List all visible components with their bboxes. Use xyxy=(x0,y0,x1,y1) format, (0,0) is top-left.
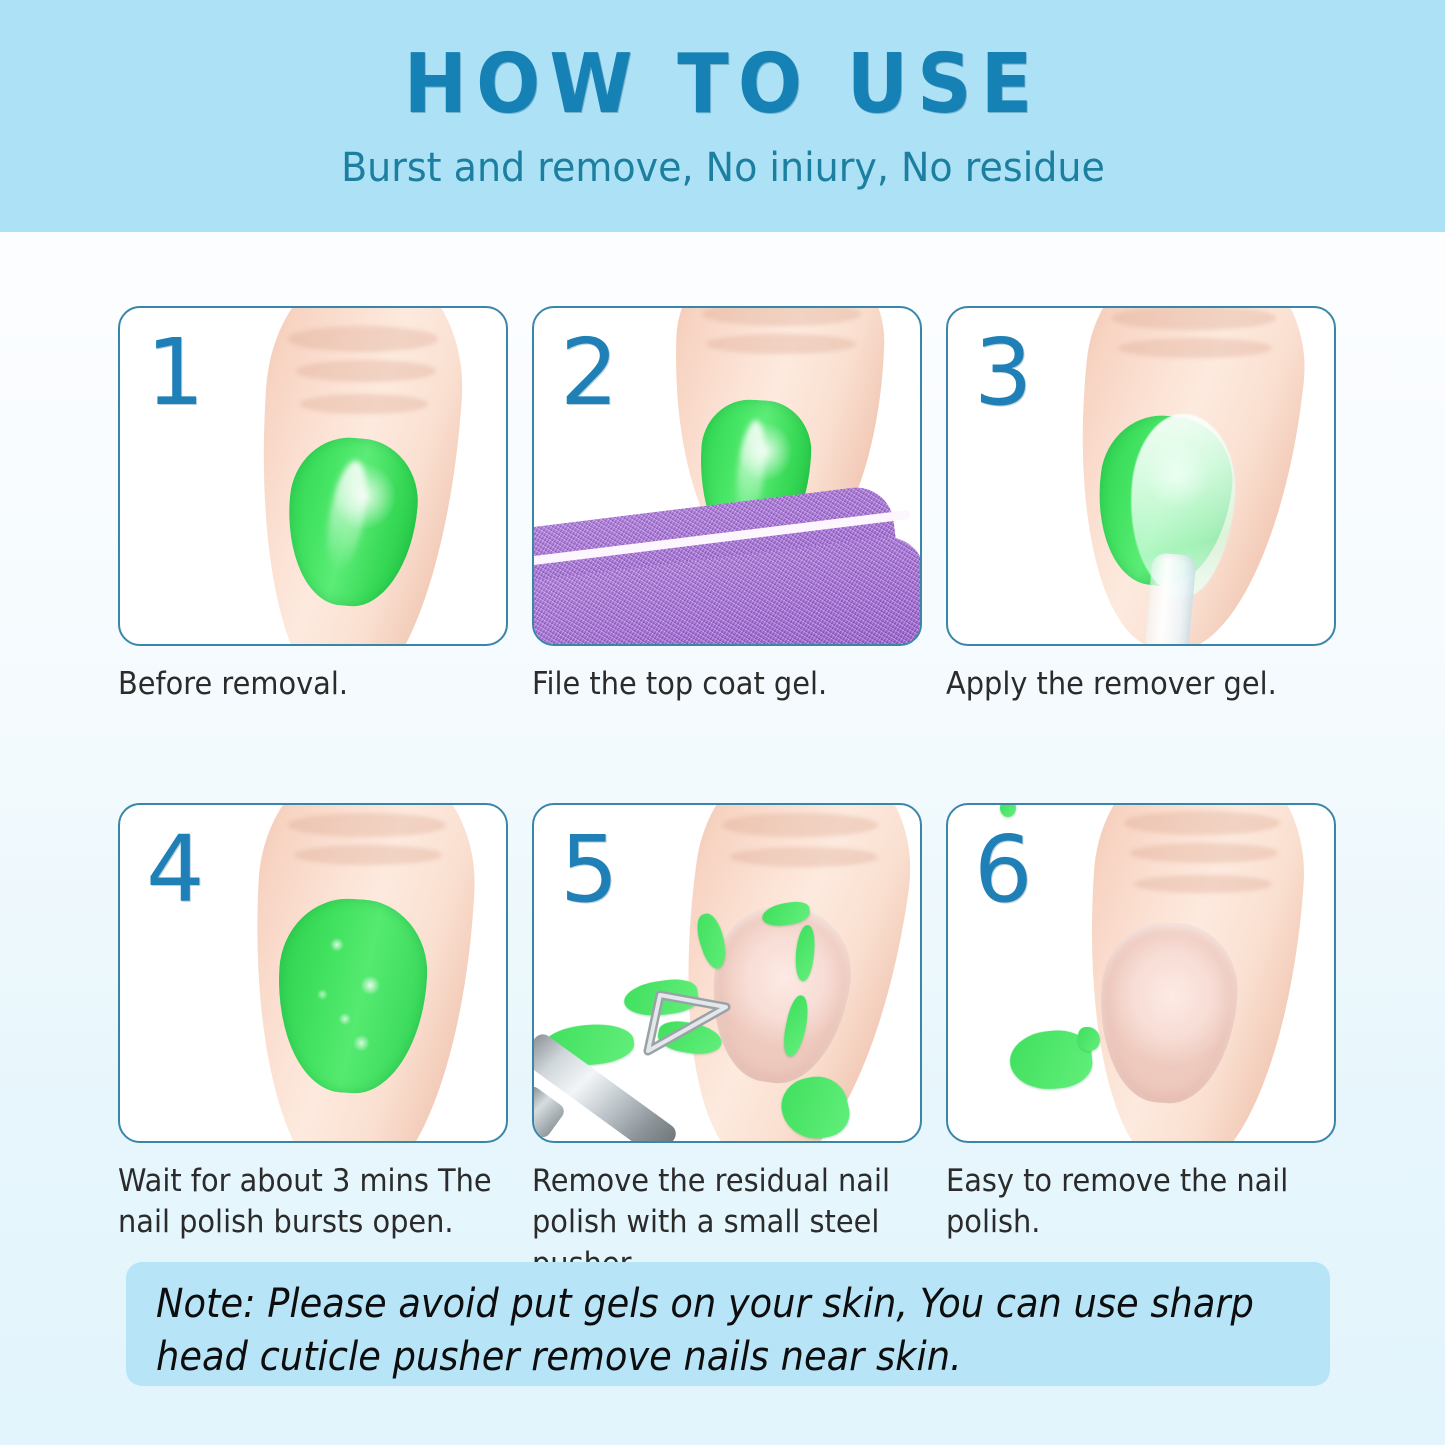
steps-row-1: 1 Before removal. 2 xyxy=(118,306,1334,705)
step-caption-1: Before removal. xyxy=(118,664,509,705)
step-caption-2: File the top coat gel. xyxy=(532,664,923,705)
header-band: HOW TO USE Burst and remove, No iniury, … xyxy=(0,0,1445,232)
steps-grid: 1 Before removal. 2 xyxy=(118,306,1334,1285)
gel-brush xyxy=(1143,552,1196,646)
step-number-2: 2 xyxy=(560,322,619,423)
step-cell-4: 4 Wait for about 3 mins The nail polish … xyxy=(118,803,508,1285)
step-card-1: 1 xyxy=(118,306,508,646)
pusher-loop-icon xyxy=(630,955,750,1065)
infographic-page: HOW TO USE Burst and remove, No iniury, … xyxy=(0,0,1445,1445)
step-card-3: 3 xyxy=(946,306,1336,646)
step-number-1: 1 xyxy=(146,322,205,423)
step-card-2: 2 xyxy=(532,306,922,646)
step-number-5: 5 xyxy=(560,819,619,920)
step-card-4: 4 xyxy=(118,803,508,1143)
note-box: Note: Please avoid put gels on your skin… xyxy=(126,1262,1330,1386)
step-cell-1: 1 Before removal. xyxy=(118,306,508,705)
page-title: HOW TO USE xyxy=(404,44,1042,126)
step-cell-2: 2 File the top coat gel. xyxy=(532,306,922,705)
step-number-6: 6 xyxy=(974,819,1033,920)
step-number-3: 3 xyxy=(974,322,1033,423)
step-number-4: 4 xyxy=(146,819,205,920)
steps-row-2: 4 Wait for about 3 mins The nail polish … xyxy=(118,803,1334,1285)
page-subtitle: Burst and remove, No iniury, No residue xyxy=(341,148,1105,188)
note-text: Note: Please avoid put gels on your skin… xyxy=(156,1278,1334,1384)
step-card-5: 5 xyxy=(532,803,922,1143)
step-cell-5: 5 xyxy=(532,803,922,1285)
step-cell-6: 6 Easy to remove the nail polish. xyxy=(946,803,1336,1285)
step-caption-3: Apply the remover gel. xyxy=(946,664,1337,705)
step-cell-3: 3 Apply the remover gel. xyxy=(946,306,1336,705)
step-caption-6: Easy to remove the nail polish. xyxy=(946,1161,1337,1243)
step-caption-4: Wait for about 3 mins The nail polish bu… xyxy=(118,1161,509,1243)
step-card-6: 6 xyxy=(946,803,1336,1143)
